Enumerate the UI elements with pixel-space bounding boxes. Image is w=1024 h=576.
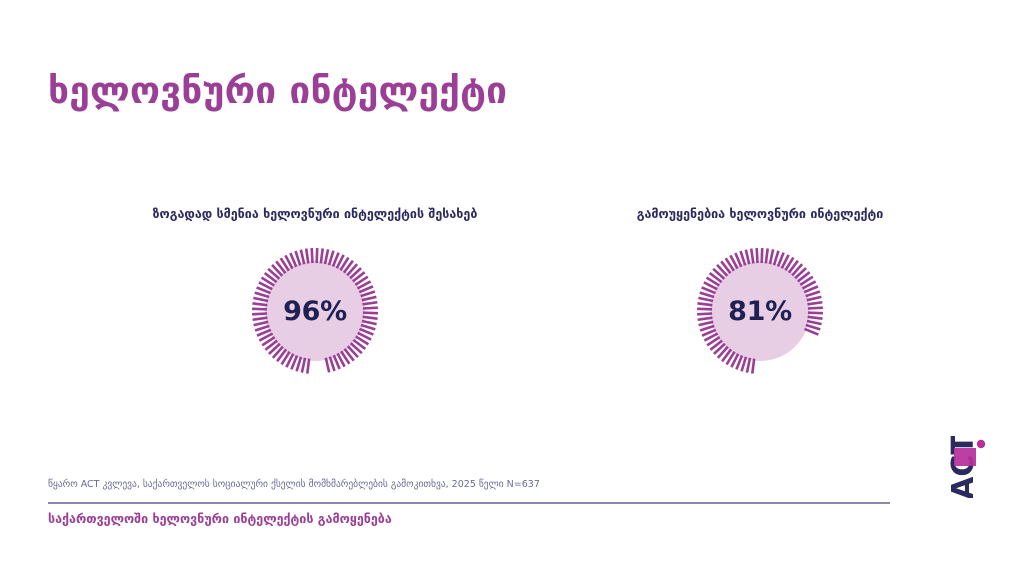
chart-label-awareness: ზოგადად სმენია ხელოვნური ინტელექტის შესა… — [90, 206, 540, 222]
act-logo-dot — [977, 440, 985, 448]
footer-title: საქართველოში ხელოვნური ინტელექტის გამოყე… — [48, 511, 392, 526]
gauge-awareness: 96% — [250, 246, 380, 376]
gauge-usage: 81% — [695, 246, 825, 376]
page-title: ხელოვნური ინტელექტი — [48, 69, 507, 112]
source-footnote: წყარო ACT კვლევა, საქართველოს სოციალური … — [48, 479, 540, 490]
gauge-value-usage: 81% — [695, 246, 825, 376]
act-logo-text: ACT — [948, 436, 981, 498]
chart-panel-usage: გამოუყენებია ხელოვნური ინტელექტი 81% — [535, 206, 985, 376]
chart-label-usage: გამოუყენებია ხელოვნური ინტელექტი — [535, 206, 985, 222]
slide-canvas: ხელოვნური ინტელექტი ზოგადად სმენია ხელოვ… — [0, 0, 1024, 576]
chart-panel-awareness: ზოგადად სმენია ხელოვნური ინტელექტის შესა… — [90, 206, 540, 376]
act-logo-accent-block — [954, 448, 976, 466]
footer-divider — [48, 502, 890, 504]
gauge-value-awareness: 96% — [250, 246, 380, 376]
act-logo: ACT ACT — [948, 436, 1000, 498]
